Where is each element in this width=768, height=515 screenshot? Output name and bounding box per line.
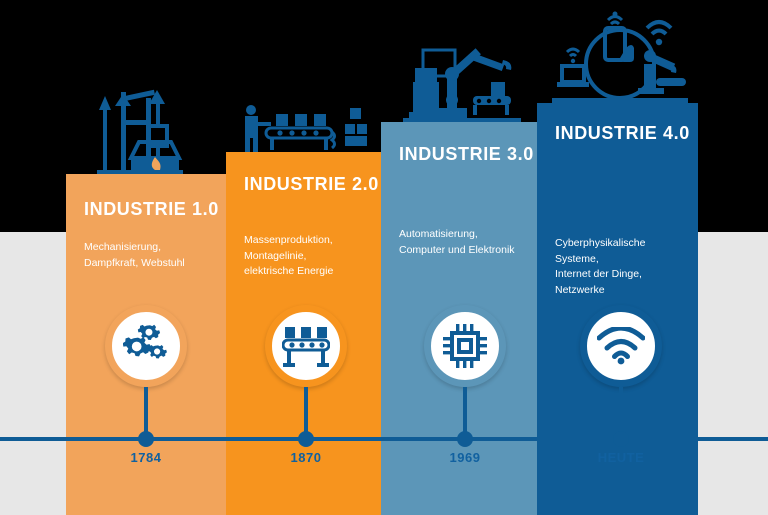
stage-description: Automatisierung, Computer und Elektronik <box>399 227 519 258</box>
wifi-icon <box>597 327 645 365</box>
stage-badge-industrie-3[interactable] <box>424 305 506 387</box>
stage-badge-industrie-4[interactable] <box>580 305 662 387</box>
timeline-label: 1969 <box>405 450 525 465</box>
stage-title: INDUSTRIE 4.0 <box>555 123 680 144</box>
microchip-icon <box>442 323 488 369</box>
stage-badge-industrie-2[interactable] <box>265 305 347 387</box>
stage-title: INDUSTRIE 3.0 <box>399 144 519 165</box>
stage-description: Massenproduktion, Montagelinie, elektris… <box>244 233 363 280</box>
timeline-marker-1969[interactable] <box>457 431 473 447</box>
timeline-label: 1784 <box>86 450 206 465</box>
timeline-marker-1870[interactable] <box>298 431 314 447</box>
stage-description: Cyberphysikalische Systeme, Internet der… <box>555 236 680 298</box>
timeline-axis <box>0 437 768 441</box>
timeline-label: 1870 <box>246 450 366 465</box>
steam-engine-loom-icon <box>97 86 183 174</box>
robot-arm-icon <box>403 48 521 124</box>
timeline-marker-1784[interactable] <box>138 431 154 447</box>
timeline-label: HEUTE <box>561 450 681 465</box>
stage-title: INDUSTRIE 2.0 <box>244 174 363 195</box>
stage-description: Mechanisierung, Dampfkraft, Webstuhl <box>84 240 208 271</box>
gears-icon <box>123 323 169 369</box>
timeline-marker-heute[interactable] <box>613 431 629 447</box>
assembly-line-worker-icon <box>240 104 368 154</box>
conveyor-belt-icon <box>282 325 330 367</box>
iot-network-icon <box>552 8 688 104</box>
stage-title: INDUSTRIE 1.0 <box>84 199 208 220</box>
infographic-canvas: INDUSTRIE 1.0 Mechanisierung, Dampfkraft… <box>0 0 768 515</box>
stage-badge-industrie-1[interactable] <box>105 305 187 387</box>
